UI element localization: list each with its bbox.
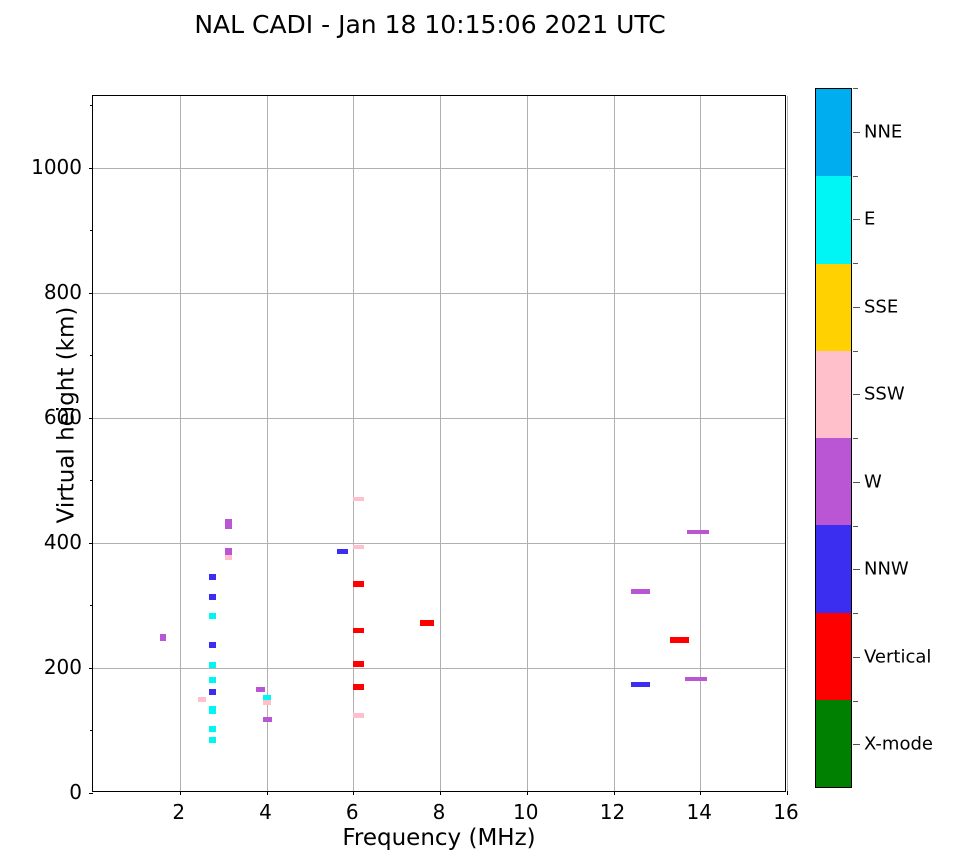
- gridline-vertical: [700, 96, 701, 791]
- gridline-vertical: [180, 96, 181, 791]
- data-mark: [209, 706, 216, 714]
- data-mark: [353, 497, 363, 501]
- data-mark: [631, 682, 650, 687]
- gridline-vertical: [267, 96, 268, 791]
- data-mark: [353, 661, 364, 667]
- y-tick: [89, 543, 93, 544]
- colorbar-segment-sse: [816, 264, 851, 351]
- x-tick-label: 14: [687, 800, 712, 824]
- x-tick: [267, 791, 268, 795]
- data-mark: [209, 613, 216, 619]
- data-mark: [209, 594, 216, 600]
- x-tick-label: 6: [346, 800, 359, 824]
- colorbar-boundary-tick: [853, 263, 858, 264]
- gridline-vertical: [614, 96, 615, 791]
- data-mark: [198, 697, 206, 702]
- colorbar-segment-nnw: [816, 525, 851, 612]
- y-tick: [89, 793, 93, 794]
- colorbar-tick: [853, 569, 860, 570]
- data-mark: [209, 642, 216, 648]
- x-tick-label: 16: [773, 800, 798, 824]
- data-mark: [225, 548, 232, 555]
- y-minor-tick: [90, 480, 93, 481]
- gridline-horizontal: [93, 168, 785, 169]
- x-tick: [527, 791, 528, 795]
- colorbar-label-nnw: NNW: [864, 559, 909, 580]
- colorbar-label-nne: NNE: [864, 121, 902, 142]
- data-mark: [353, 684, 364, 690]
- colorbar-label-e: E: [864, 209, 875, 230]
- colorbar-boundary-tick: [853, 438, 858, 439]
- data-mark: [685, 677, 707, 681]
- colorbar-label-x-mode: X-mode: [864, 734, 933, 755]
- data-mark: [631, 589, 650, 594]
- colorbar-segment-nne: [816, 89, 851, 176]
- data-mark: [209, 662, 216, 668]
- y-tick: [89, 668, 93, 669]
- colorbar-tick: [853, 219, 860, 220]
- x-tick: [180, 791, 181, 795]
- colorbar-tick: [853, 482, 860, 483]
- colorbar-segment-vertical: [816, 613, 851, 700]
- x-tick-label: 12: [600, 800, 625, 824]
- colorbar: [815, 88, 852, 788]
- colorbar-label-ssw: SSW: [864, 384, 905, 405]
- x-tick: [700, 791, 701, 795]
- gridline-horizontal: [93, 668, 785, 669]
- data-mark: [337, 549, 348, 554]
- colorbar-tick: [853, 657, 860, 658]
- data-mark: [263, 717, 273, 722]
- gridline-vertical: [787, 96, 788, 791]
- colorbar-label-vertical: Vertical: [864, 646, 931, 667]
- y-tick: [89, 418, 93, 419]
- colorbar-boundary-tick: [853, 701, 858, 702]
- data-mark: [353, 713, 364, 718]
- x-tick-label: 10: [513, 800, 538, 824]
- data-mark: [420, 620, 434, 626]
- colorbar-boundary-tick: [853, 176, 858, 177]
- colorbar-label-w: W: [864, 471, 882, 492]
- colorbar-boundary-tick: [853, 88, 858, 89]
- gridline-vertical: [527, 96, 528, 791]
- colorbar-tick: [853, 307, 860, 308]
- y-minor-tick: [90, 105, 93, 106]
- data-mark: [225, 519, 232, 529]
- y-minor-tick: [90, 605, 93, 606]
- gridline-vertical: [440, 96, 441, 791]
- x-tick-label: 4: [259, 800, 272, 824]
- colorbar-segment-w: [816, 438, 851, 525]
- colorbar-boundary-tick: [853, 613, 858, 614]
- colorbar-boundary-tick: [853, 351, 858, 352]
- colorbar-segment-ssw: [816, 351, 851, 438]
- x-tick-label: 2: [172, 800, 185, 824]
- x-tick: [614, 791, 615, 795]
- data-mark: [256, 687, 266, 692]
- data-mark: [670, 637, 689, 643]
- y-tick: [89, 168, 93, 169]
- data-mark: [225, 555, 232, 560]
- data-mark: [353, 628, 364, 633]
- colorbar-label-sse: SSE: [864, 296, 898, 317]
- y-tick: [89, 293, 93, 294]
- gridline-horizontal: [93, 293, 785, 294]
- colorbar-segment-e: [816, 176, 851, 263]
- x-tick-label: 8: [433, 800, 446, 824]
- y-minor-tick: [90, 230, 93, 231]
- colorbar-tick: [853, 394, 860, 395]
- plot-area: [92, 95, 786, 792]
- data-mark: [209, 677, 216, 683]
- data-mark: [263, 700, 271, 705]
- data-mark: [209, 574, 216, 580]
- x-axis-label: Frequency (MHz): [92, 825, 786, 851]
- x-tick: [787, 791, 788, 795]
- figure-canvas: NAL CADI - Jan 18 10:15:06 2021 UTC 2468…: [0, 0, 958, 857]
- colorbar-segment-x-mode: [816, 700, 851, 787]
- data-mark: [160, 634, 166, 641]
- data-mark: [353, 581, 364, 587]
- colorbar-tick: [853, 744, 860, 745]
- data-mark: [687, 530, 709, 534]
- page-title: NAL CADI - Jan 18 10:15:06 2021 UTC: [0, 10, 860, 39]
- data-mark: [209, 689, 216, 695]
- colorbar-boundary-tick: [853, 526, 858, 527]
- y-minor-tick: [90, 730, 93, 731]
- gridline-horizontal: [93, 418, 785, 419]
- gridline-horizontal: [93, 543, 785, 544]
- colorbar-tick: [853, 132, 860, 133]
- y-tick-label: 0: [0, 780, 82, 804]
- data-mark: [209, 737, 216, 743]
- x-tick: [353, 791, 354, 795]
- y-minor-tick: [90, 355, 93, 356]
- data-mark: [353, 545, 363, 549]
- y-axis-label: Virtual height (km): [54, 67, 80, 764]
- x-tick: [440, 791, 441, 795]
- data-mark: [209, 726, 216, 732]
